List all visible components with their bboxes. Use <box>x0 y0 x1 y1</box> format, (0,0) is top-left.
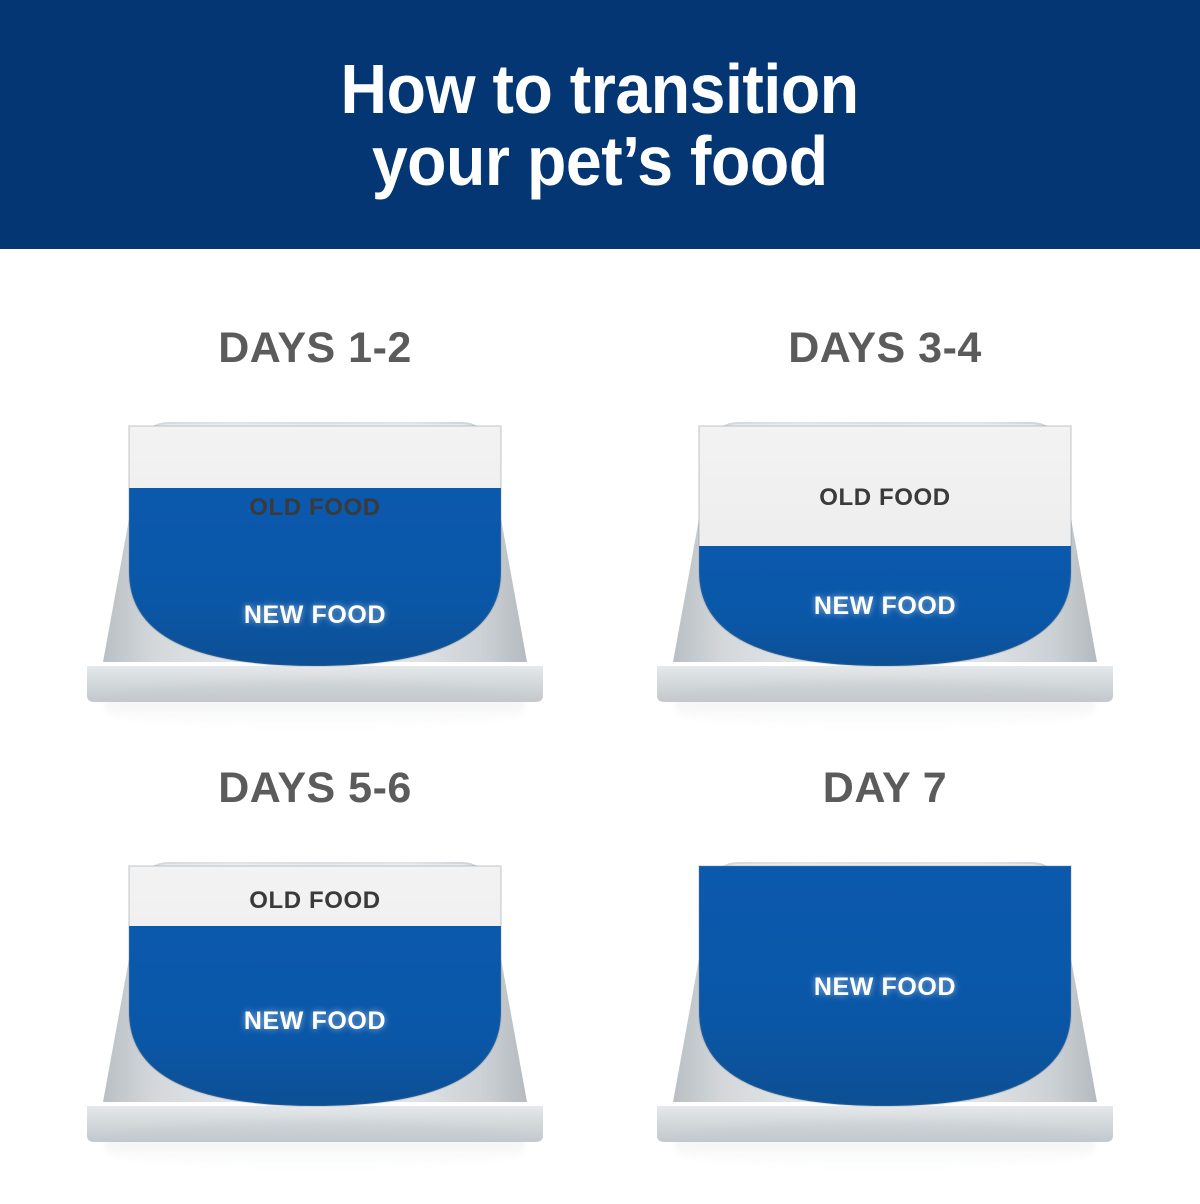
step-title-day-7: DAY 7 <box>605 764 1165 812</box>
step-title-days-3-4: DAYS 3-4 <box>605 324 1165 372</box>
step-title-days-1-2: DAYS 1-2 <box>35 324 595 372</box>
page-title-line-1: How to transition <box>341 53 859 125</box>
header-banner: How to transition your pet’s food <box>0 0 1200 249</box>
bowl-reflection <box>105 682 525 728</box>
bowl-reflection <box>675 682 1095 728</box>
bowl-illustration <box>635 414 1135 704</box>
transition-step-days-3-4: DAYS 3-4 <box>605 324 1165 764</box>
bowl-reflection <box>675 1122 1095 1168</box>
food-bowl-days-5-6: OLD FOOD NEW FOOD <box>65 854 565 1144</box>
food-bowl-day-7: NEW FOOD <box>635 854 1135 1144</box>
new-food-fill <box>125 926 505 1110</box>
new-food-fill <box>695 862 1075 1110</box>
bowl-illustration <box>65 854 565 1144</box>
food-bowl-days-1-2: OLD FOOD NEW FOOD <box>65 414 565 704</box>
transition-step-days-5-6: DAYS 5-6 <box>35 764 595 1204</box>
bowl-illustration <box>65 414 565 704</box>
bowl-reflection <box>105 1122 525 1168</box>
bowl-illustration <box>635 854 1135 1144</box>
food-bowl-days-3-4: OLD FOOD NEW FOOD <box>635 414 1135 704</box>
new-food-fill <box>125 488 505 670</box>
page-title-line-2: your pet’s food <box>372 125 828 197</box>
transition-step-days-1-2: DAYS 1-2 <box>35 324 595 764</box>
transition-step-day-7: DAY 7 <box>605 764 1165 1204</box>
step-title-days-5-6: DAYS 5-6 <box>35 764 595 812</box>
transition-steps-grid: DAYS 1-2 <box>0 249 1200 1200</box>
